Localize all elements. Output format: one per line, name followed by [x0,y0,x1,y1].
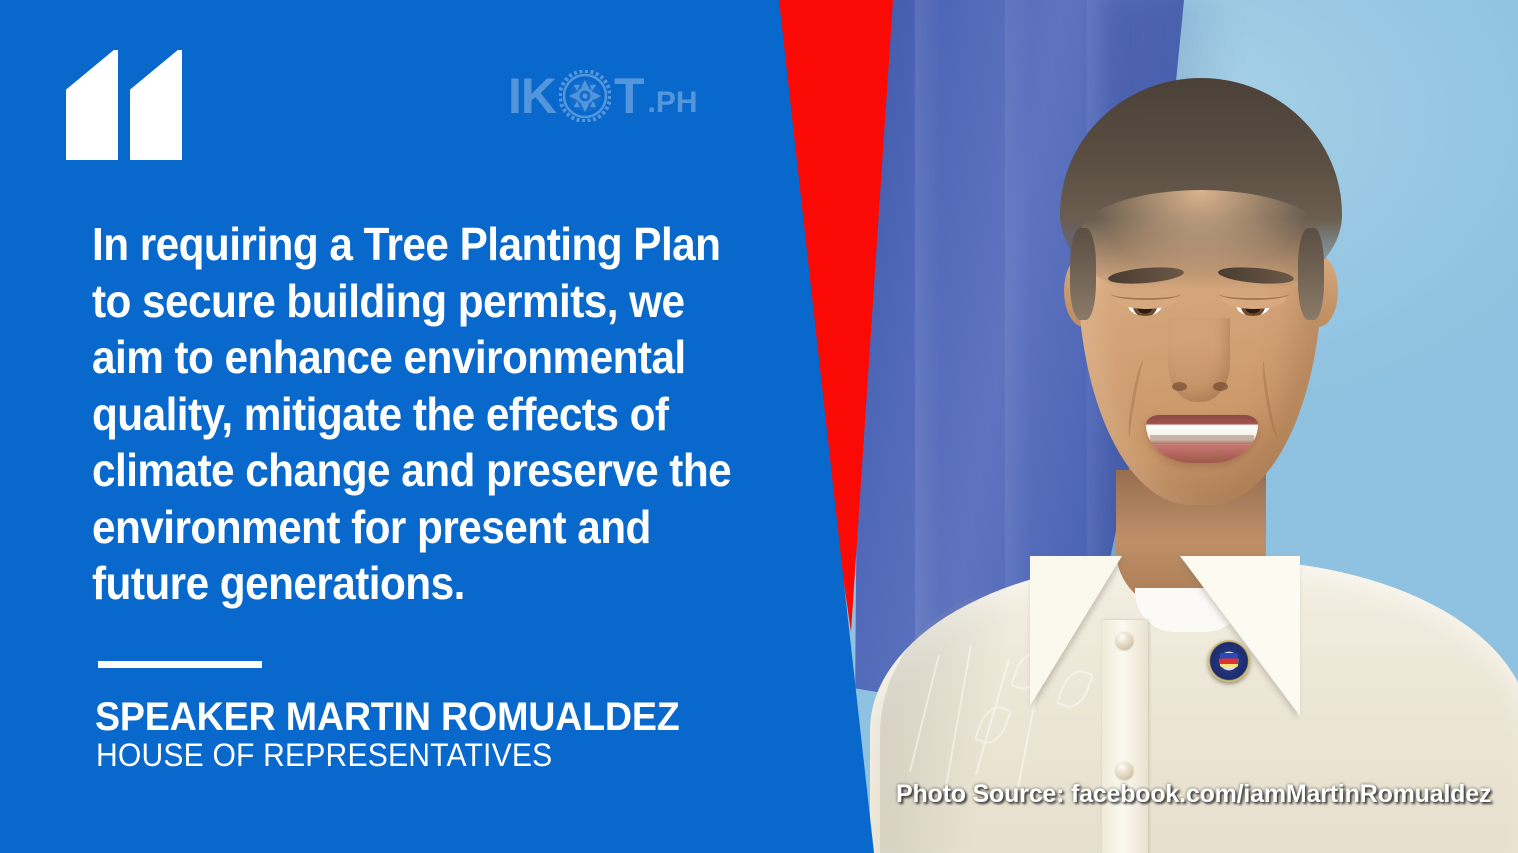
logo-text-ph: .PH [648,88,698,118]
portrait-subject [880,0,1518,853]
double-quote-icon [66,50,186,160]
shirt-placket [1102,620,1148,853]
nostril-right [1213,382,1228,391]
sideburn-right [1298,228,1324,320]
quote-line: future generations. [92,555,736,612]
quote-line: aim to enhance environmental [92,329,736,386]
eyelid-right [1219,288,1289,300]
divider-rule [98,661,262,668]
house-seal-lapel-pin-icon [1208,640,1250,682]
logo-text-t: T [614,71,644,121]
shirt-button [1116,632,1133,649]
chin [1142,452,1262,504]
quote-line: quality, mitigate the effects of [92,386,736,443]
tire-wheel-icon [559,70,611,122]
speaker-role: HOUSE OF REPRESENTATIVES [96,738,552,773]
quote-line: climate change and preserve the [92,442,736,499]
collar-right [1180,556,1300,716]
ikot-ph-logo[interactable]: IK T .PH [508,70,698,122]
nostril-left [1172,382,1187,391]
quote-text: In requiring a Tree Planting Plan to sec… [92,216,736,612]
speaker-name: SPEAKER MARTIN ROMUALDEZ [95,696,680,738]
shirt-button [1116,762,1133,779]
quote-line: to secure building permits, we [92,273,736,330]
sideburn-left [1070,228,1096,320]
quote-line: In requiring a Tree Planting Plan [92,216,736,273]
quote-line: environment for present and [92,499,736,556]
logo-text-ik: IK [508,71,556,121]
quote-card: IK T .PH [0,0,1518,853]
photo-credit: Photo Source: facebook.com/iamMartinRomu… [896,780,1491,809]
eyelid-left [1111,288,1181,300]
